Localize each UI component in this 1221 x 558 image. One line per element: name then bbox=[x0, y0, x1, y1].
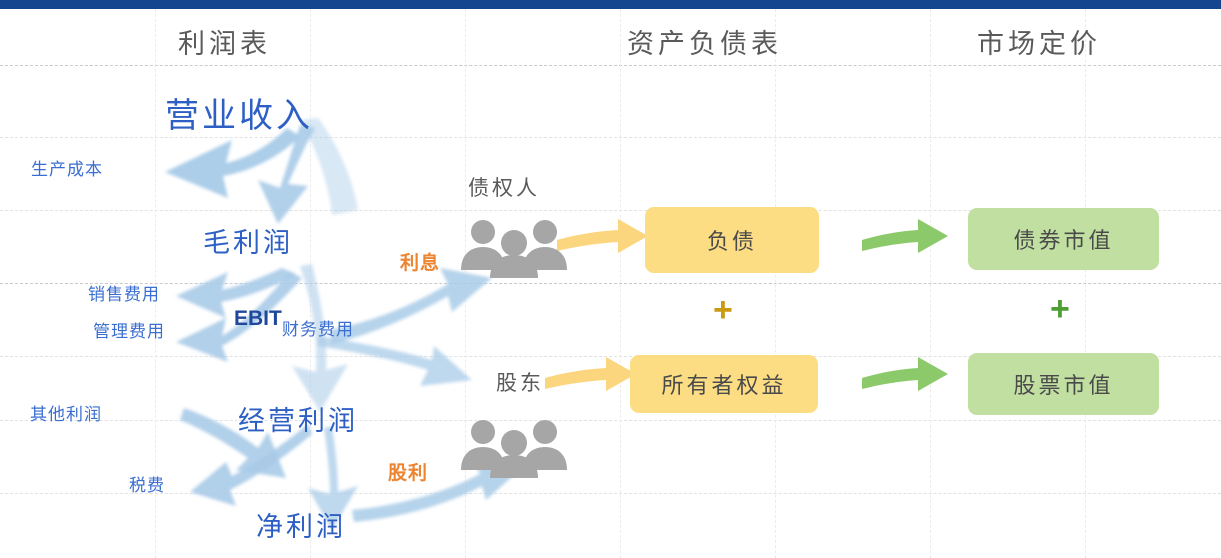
node-operating-profit: 经营利润 bbox=[238, 399, 358, 438]
node-tax: 税费 bbox=[129, 471, 165, 496]
people-group-icon bbox=[459, 216, 569, 278]
node-other-profit: 其他利润 bbox=[30, 400, 102, 425]
flow-label-dividend: 股利 bbox=[388, 458, 428, 485]
people-group-icon bbox=[459, 416, 569, 478]
box-equity[interactable]: 所有者权益 bbox=[630, 355, 818, 413]
box-liabilities[interactable]: 负债 bbox=[645, 207, 819, 273]
node-admin-expense: 管理费用 bbox=[93, 317, 165, 342]
node-cost-of-goods: 生产成本 bbox=[31, 155, 103, 180]
node-selling-expense: 销售费用 bbox=[88, 280, 160, 305]
node-revenue: 营业收入 bbox=[165, 88, 313, 137]
box-bond-market-value[interactable]: 债券市值 bbox=[968, 208, 1159, 270]
section-title-income-statement: 利润表 bbox=[178, 22, 271, 61]
balance-sheet-plus-operator: + bbox=[713, 293, 733, 327]
section-title-balance-sheet: 资产负债表 bbox=[627, 22, 782, 61]
flow-label-interest: 利息 bbox=[400, 248, 440, 275]
market-pricing-plus-operator: + bbox=[1050, 292, 1070, 326]
top-accent-bar bbox=[0, 0, 1221, 9]
stakeholder-label-creditors: 债权人 bbox=[468, 172, 540, 202]
node-ebit: EBIT bbox=[234, 307, 282, 331]
stakeholder-label-shareholders: 股东 bbox=[496, 367, 544, 397]
section-title-market-pricing: 市场定价 bbox=[977, 22, 1101, 61]
node-net-profit: 净利润 bbox=[256, 505, 346, 544]
node-finance-expense: 财务费用 bbox=[282, 315, 354, 340]
box-stock-market-value[interactable]: 股票市值 bbox=[968, 353, 1159, 415]
node-gross-profit: 毛利润 bbox=[203, 221, 293, 260]
diagram-canvas: 利润表 资产负债表 市场定价 bbox=[0, 0, 1221, 558]
